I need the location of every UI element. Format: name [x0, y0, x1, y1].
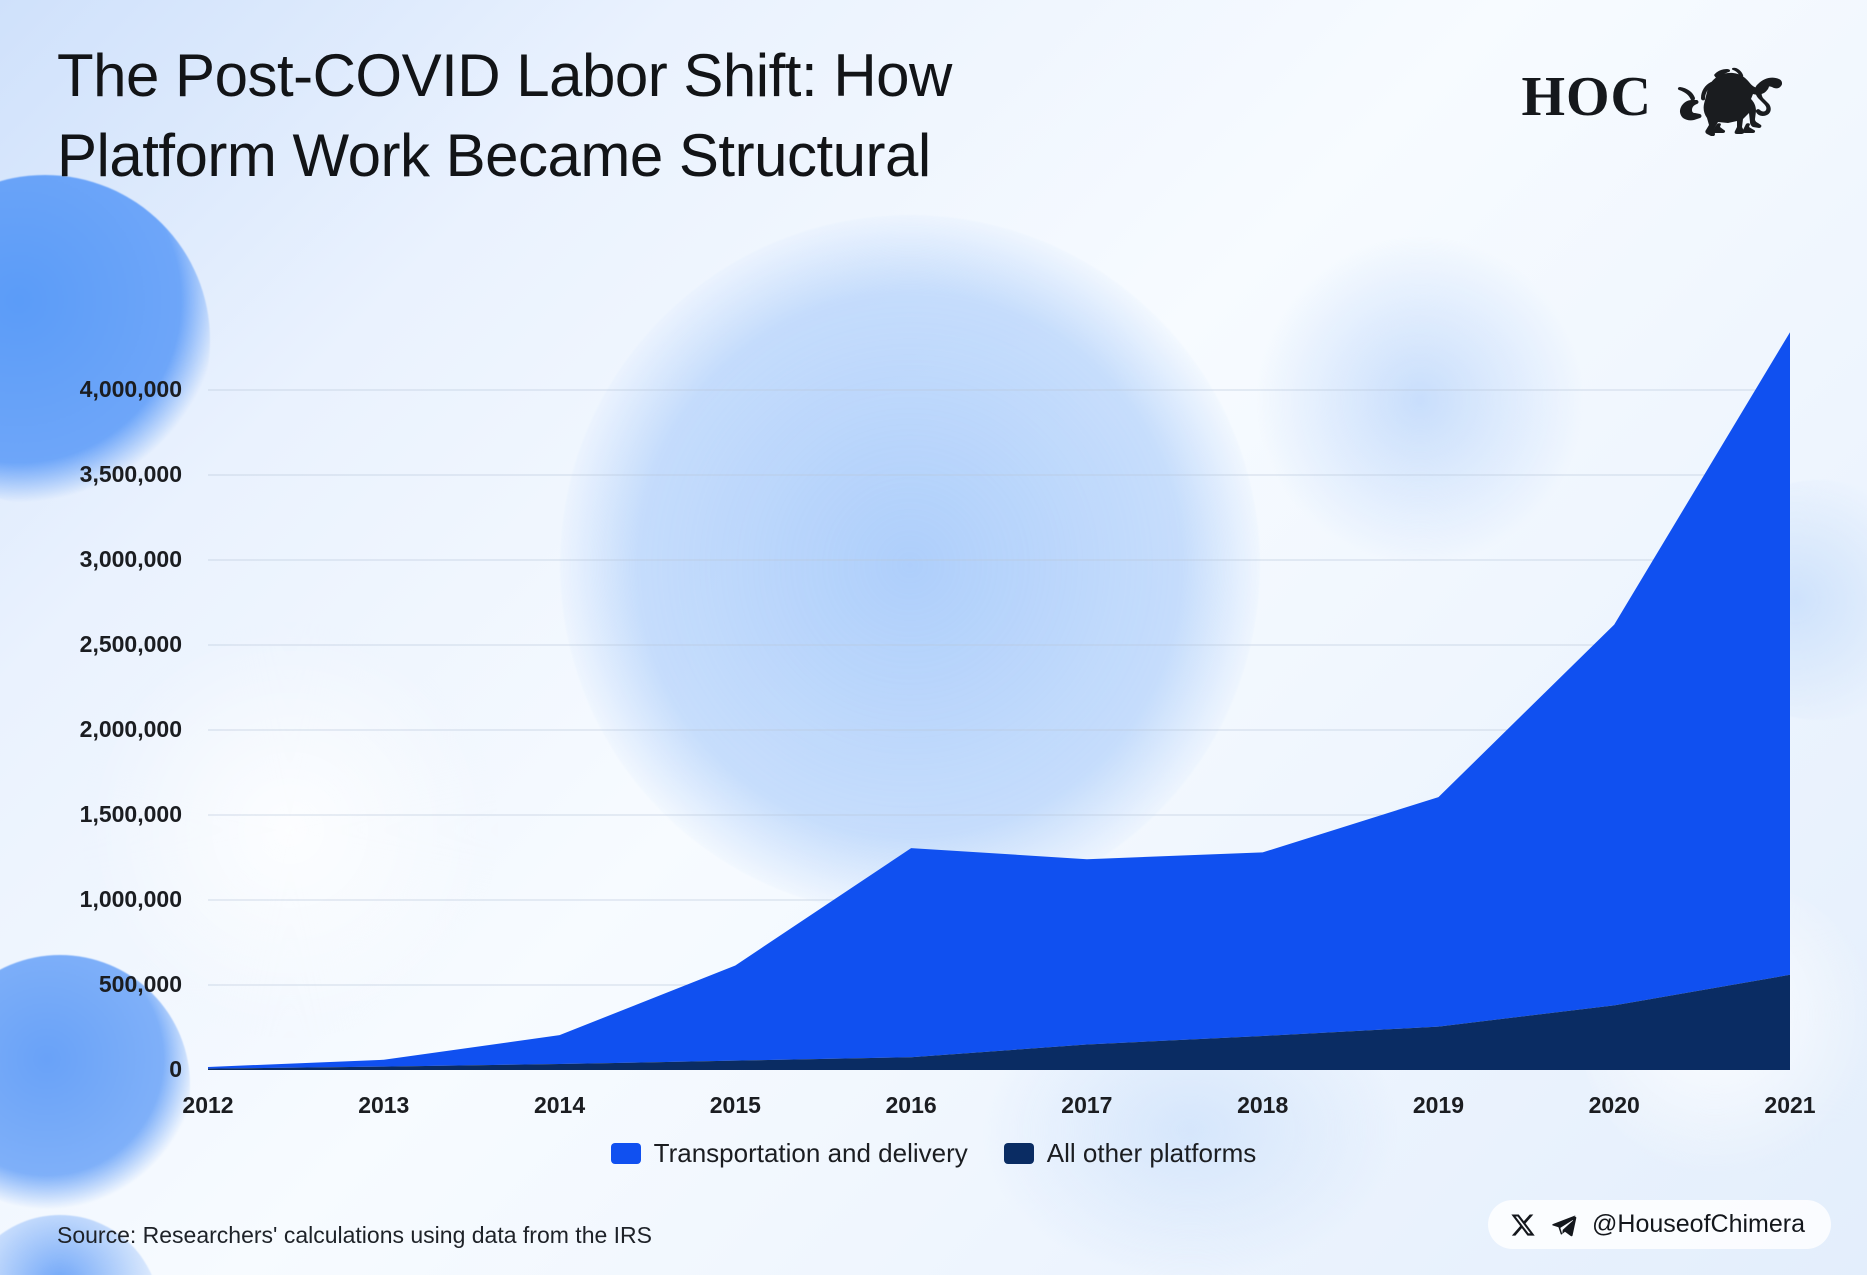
x-axis-tick-label: 2017	[1061, 1092, 1112, 1118]
y-axis-tick-label: 500,000	[99, 971, 182, 997]
legend-item-transportation[interactable]: Transportation and delivery	[611, 1138, 968, 1169]
legend-label-transportation: Transportation and delivery	[654, 1138, 968, 1169]
y-axis-tick-label: 3,500,000	[80, 461, 182, 487]
social-handle-pill[interactable]: @HouseofChimera	[1488, 1200, 1831, 1249]
x-axis-tick-label: 2013	[358, 1092, 409, 1118]
x-axis-tick-label: 2012	[182, 1092, 233, 1118]
social-handle-text: @HouseofChimera	[1592, 1210, 1805, 1239]
legend-swatch-other-platforms	[1004, 1143, 1034, 1164]
y-axis-tick-label: 3,000,000	[80, 546, 182, 572]
x-axis-tick-label: 2020	[1589, 1092, 1640, 1118]
telegram-paper-plane-icon[interactable]	[1550, 1212, 1578, 1238]
source-note: Source: Researchers' calculations using …	[57, 1222, 652, 1249]
x-axis-tick-label: 2016	[886, 1092, 937, 1118]
x-axis-tick-labels: 2012201320142015201620172018201920202021	[182, 1092, 1815, 1118]
legend-item-other-platforms[interactable]: All other platforms	[1004, 1138, 1257, 1169]
y-axis-tick-label: 2,500,000	[80, 631, 182, 657]
area-series-transportation	[208, 332, 1790, 1068]
y-axis-tick-label: 0	[169, 1056, 182, 1082]
x-axis-tick-label: 2019	[1413, 1092, 1464, 1118]
y-axis-tick-label: 1,500,000	[80, 801, 182, 827]
chart-legend: Transportation and delivery All other pl…	[0, 1138, 1867, 1169]
stacked-area-chart: 0500,0001,000,0001,500,0002,000,0002,500…	[0, 0, 1867, 1275]
y-axis-tick-label: 1,000,000	[80, 886, 182, 912]
x-axis-tick-label: 2014	[534, 1092, 585, 1118]
y-axis-tick-label: 4,000,000	[80, 376, 182, 402]
chart-series-areas	[208, 332, 1790, 1070]
y-axis-tick-label: 2,000,000	[80, 716, 182, 742]
x-axis-tick-label: 2015	[710, 1092, 761, 1118]
y-axis-tick-labels: 0500,0001,000,0001,500,0002,000,0002,500…	[80, 376, 182, 1082]
x-axis-tick-label: 2021	[1764, 1092, 1815, 1118]
x-axis-tick-label: 2018	[1237, 1092, 1288, 1118]
legend-label-other-platforms: All other platforms	[1047, 1138, 1257, 1169]
legend-swatch-transportation	[611, 1143, 641, 1164]
x-twitter-icon[interactable]	[1510, 1212, 1536, 1238]
